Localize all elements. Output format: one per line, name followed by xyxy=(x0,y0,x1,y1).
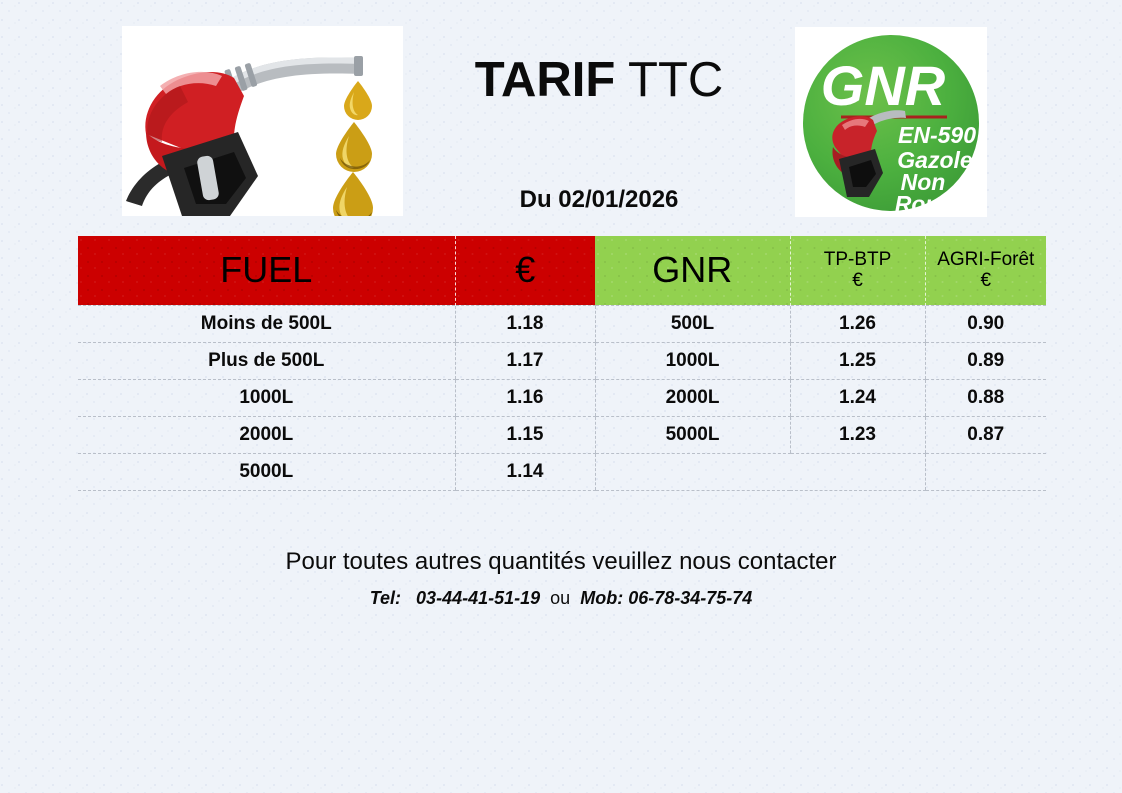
column-header-gnr-label: GNR xyxy=(652,249,732,290)
cell-fuel-volume: 5000L xyxy=(78,453,455,490)
mob-number: 06-78-34-75-74 xyxy=(628,588,752,608)
cell-fuel-volume: Plus de 500L xyxy=(78,342,455,379)
cell-tpbtp-price xyxy=(790,453,925,490)
table-header: FUEL € GNR TP-BTP € AGRI-Forêt € xyxy=(78,236,1046,305)
table-row: 2000L 1.15 5000L 1.23 0.87 xyxy=(78,416,1046,453)
cell-gnr-volume: 500L xyxy=(595,305,790,342)
cell-tpbtp-price: 1.23 xyxy=(790,416,925,453)
column-header-tpbtp-label: TP-BTP xyxy=(795,249,921,270)
cell-gnr-volume: 5000L xyxy=(595,416,790,453)
tariff-table: FUEL € GNR TP-BTP € AGRI-Forêt € xyxy=(78,236,1046,491)
cell-fuel-price: 1.15 xyxy=(455,416,595,453)
cell-fuel-volume: 1000L xyxy=(78,379,455,416)
table-row: 1000L 1.16 2000L 1.24 0.88 xyxy=(78,379,1046,416)
cell-tpbtp-price: 1.25 xyxy=(790,342,925,379)
column-header-fuel-price: € xyxy=(455,236,595,305)
column-header-gnr: GNR xyxy=(595,236,790,305)
cell-gnr-volume xyxy=(595,453,790,490)
footer-contact: Tel: 03-44-41-51-19 ou Mob: 06-78-34-75-… xyxy=(0,588,1122,609)
cell-gnr-volume: 1000L xyxy=(595,342,790,379)
table-header-row: FUEL € GNR TP-BTP € AGRI-Forêt € xyxy=(78,236,1046,305)
gnr-logo: GNR EN-590 Gazole Non Routier xyxy=(795,27,987,217)
gnr-brand-text: GNR xyxy=(821,54,946,117)
tel-number: 03-44-41-51-19 xyxy=(416,588,540,608)
column-header-agri: AGRI-Forêt € xyxy=(925,236,1046,305)
effective-date: Du 02/01/2026 xyxy=(404,186,794,214)
table-row: Plus de 500L 1.17 1000L 1.25 0.89 xyxy=(78,342,1046,379)
cell-tpbtp-price: 1.26 xyxy=(790,305,925,342)
cell-fuel-price: 1.17 xyxy=(455,342,595,379)
page-title-regular: TTC xyxy=(615,53,723,107)
cell-fuel-volume: Moins de 500L xyxy=(78,305,455,342)
page-title-bold: TARIF xyxy=(475,53,616,107)
cell-agri-price xyxy=(925,453,1046,490)
fuel-nozzle-icon xyxy=(122,26,403,216)
cell-fuel-price: 1.18 xyxy=(455,305,595,342)
gnr-standard-text: EN-590 xyxy=(898,122,976,148)
table-row: Moins de 500L 1.18 500L 1.26 0.90 xyxy=(78,305,1046,342)
page-title: TARIF TTC xyxy=(404,55,794,106)
tariff-poster: TARIF TTC Du 02/01/2026 GNR EN-590 Gazol… xyxy=(0,0,1122,793)
gnr-line3-text: Routier xyxy=(895,191,977,217)
column-header-fuel-label: FUEL xyxy=(220,249,312,290)
table-row: 5000L 1.14 xyxy=(78,453,1046,490)
cell-agri-price: 0.88 xyxy=(925,379,1046,416)
column-header-agri-label: AGRI-Forêt xyxy=(930,249,1043,270)
gnr-logo-icon: GNR EN-590 Gazole Non Routier xyxy=(795,27,987,217)
cell-agri-price: 0.90 xyxy=(925,305,1046,342)
fuel-nozzle-image xyxy=(122,26,403,216)
mob-label: Mob: xyxy=(580,588,623,608)
column-header-tpbtp: TP-BTP € xyxy=(790,236,925,305)
column-header-fuel-price-label: € xyxy=(515,249,535,290)
footer-note: Pour toutes autres quantités veuillez no… xyxy=(0,548,1122,576)
column-header-agri-unit: € xyxy=(930,270,1043,291)
cell-agri-price: 0.89 xyxy=(925,342,1046,379)
table-body: Moins de 500L 1.18 500L 1.26 0.90 Plus d… xyxy=(78,305,1046,490)
column-header-fuel: FUEL xyxy=(78,236,455,305)
cell-agri-price: 0.87 xyxy=(925,416,1046,453)
tariff-table-wrapper: FUEL € GNR TP-BTP € AGRI-Forêt € xyxy=(78,236,1046,491)
cell-tpbtp-price: 1.24 xyxy=(790,379,925,416)
contact-separator: ou xyxy=(550,588,570,608)
tel-label: Tel: xyxy=(370,588,401,608)
cell-gnr-volume: 2000L xyxy=(595,379,790,416)
cell-fuel-volume: 2000L xyxy=(78,416,455,453)
cell-fuel-price: 1.14 xyxy=(455,453,595,490)
cell-fuel-price: 1.16 xyxy=(455,379,595,416)
column-header-tpbtp-unit: € xyxy=(795,270,921,291)
